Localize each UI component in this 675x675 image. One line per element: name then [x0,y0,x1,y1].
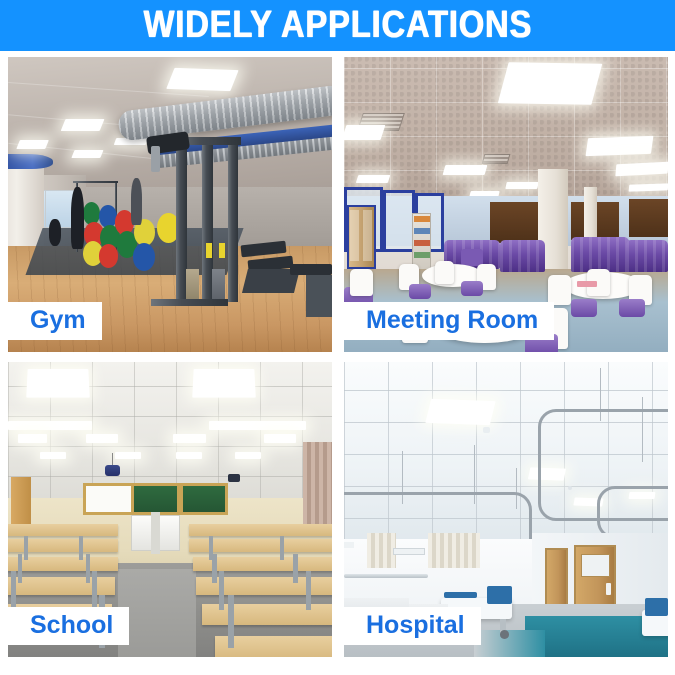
page-title: WIDELY APPLICATIONS [143,4,532,47]
application-grid: Gym [8,57,668,675]
caption-meeting-room: Meeting Room [344,302,554,340]
caption-meeting-room-label: Meeting Room [366,306,538,334]
panel-school[interactable]: School [8,362,332,657]
caption-school-label: School [30,611,113,639]
caption-gym: Gym [8,302,102,340]
panel-meeting-room[interactable]: Meeting Room [344,57,668,352]
caption-gym-label: Gym [30,306,86,334]
header-banner: WIDELY APPLICATIONS [0,0,675,51]
panel-hospital[interactable]: Hospital [344,362,668,657]
application-infographic: WIDELY APPLICATIONS [0,0,675,675]
caption-school: School [8,607,129,645]
caption-hospital-label: Hospital [366,611,465,639]
panel-gym[interactable]: Gym [8,57,332,352]
caption-hospital: Hospital [344,607,481,645]
